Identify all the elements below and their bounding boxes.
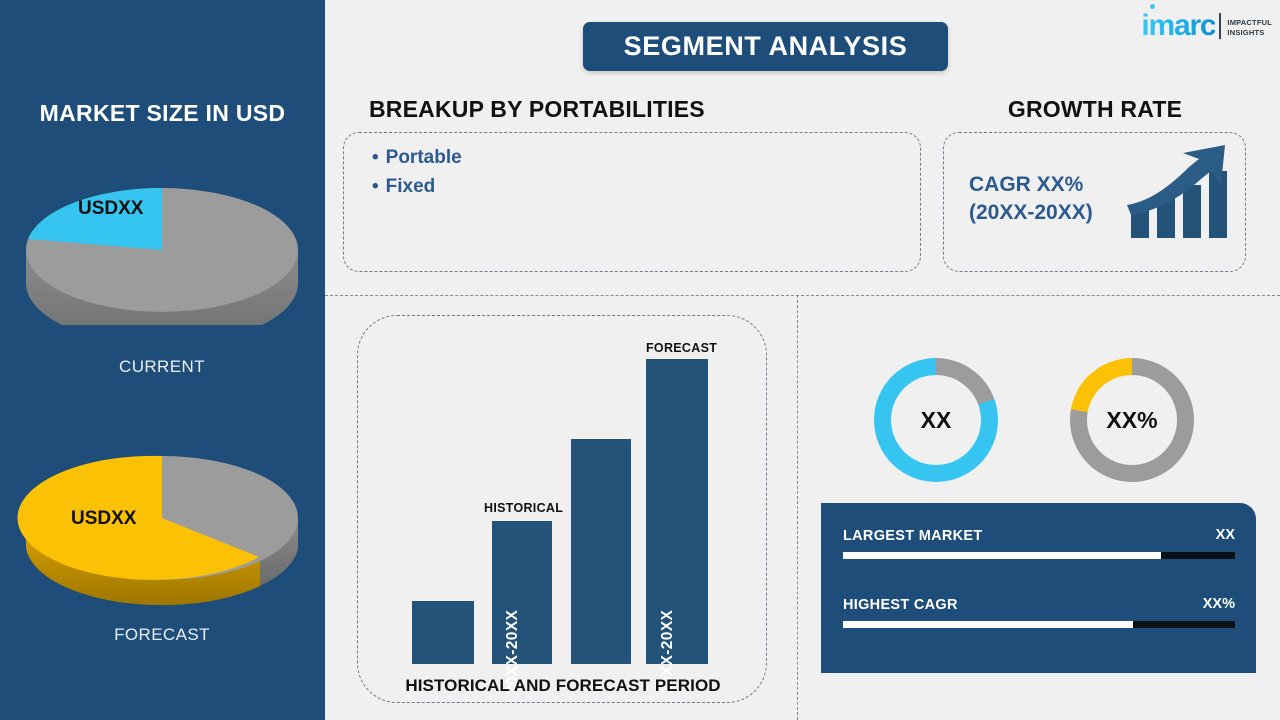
stat-progress-fill [843, 621, 1133, 628]
stat-row-highest-cagr: HIGHEST CAGR XX% [843, 596, 1235, 628]
bar-1 [412, 601, 474, 664]
portabilities-list: Portable Fixed [372, 144, 462, 202]
stat-row-largest-market: LARGEST MARKET XX [843, 527, 1235, 559]
logo-tagline-line2: INSIGHTS [1227, 28, 1272, 38]
logo-divider-icon [1219, 13, 1221, 39]
logo-word-text: imarc [1141, 9, 1215, 42]
infographic-page: MARKET SIZE IN USD USDXX CURRENT [0, 0, 1280, 720]
logo-tagline-line1: IMPACTFUL [1227, 18, 1272, 28]
pie-chart-current: USDXX CURRENT [16, 165, 308, 330]
bar-3 [571, 439, 631, 664]
donut-left-value: XX [891, 375, 981, 465]
pie-forecast-caption: FORECAST [16, 625, 308, 645]
pie-current-svg [16, 165, 308, 325]
bar-annotation-historical: HISTORICAL [484, 501, 563, 515]
bar-chart-axis-title: HISTORICAL AND FORECAST PERIOD [358, 676, 768, 696]
page-title: SEGMENT ANALYSIS [583, 22, 948, 71]
list-item: Portable [372, 144, 462, 173]
sidebar-title: MARKET SIZE IN USD [0, 100, 325, 127]
bar-4: 20XX-20XX [646, 359, 708, 664]
historical-forecast-chart: HISTORICAL 20XX-20XX FORECAST 20XX-20XX … [357, 315, 767, 703]
pie-current-caption: CURRENT [16, 357, 308, 377]
growth-rate-card: CAGR XX% (20XX-20XX) [943, 132, 1246, 272]
pie-forecast-svg [16, 440, 308, 605]
donut-chart-right: XX% [1070, 358, 1194, 482]
bar-plot-area: HISTORICAL 20XX-20XX FORECAST 20XX-20XX … [358, 316, 768, 704]
donut-chart-left: XX [874, 358, 998, 482]
stat-label: LARGEST MARKET [843, 528, 983, 544]
cagr-period: (20XX-20XX) [969, 199, 1093, 227]
stat-label: HIGHEST CAGR [843, 597, 958, 613]
bar-annotation-forecast: FORECAST [646, 341, 717, 355]
logo-tagline: IMPACTFUL INSIGHTS [1227, 18, 1272, 40]
cagr-value: CAGR XX% [969, 171, 1093, 199]
stat-value: XX% [1203, 596, 1235, 612]
list-item: Fixed [372, 173, 462, 202]
vertical-divider [797, 295, 798, 720]
logo-wordmark: imarc [1141, 12, 1215, 41]
stat-progress-fill [843, 552, 1161, 559]
growth-arrow-bars-icon [1125, 143, 1233, 248]
market-stats-panel: LARGEST MARKET XX HIGHEST CAGR XX% [821, 503, 1256, 673]
portabilities-card: Portable Fixed [343, 132, 921, 272]
stat-progress-track [843, 552, 1235, 559]
section-heading-portabilities: BREAKUP BY PORTABILITIES [369, 96, 705, 123]
main-content: SEGMENT ANALYSIS imarc IMPACTFUL INSIGHT… [325, 0, 1280, 720]
bar-2: 20XX-20XX [492, 521, 552, 664]
sidebar: MARKET SIZE IN USD USDXX CURRENT [0, 0, 325, 720]
cagr-text: CAGR XX% (20XX-20XX) [969, 171, 1093, 226]
horizontal-divider [325, 295, 1280, 296]
imarc-logo: imarc IMPACTFUL INSIGHTS [1141, 12, 1272, 41]
section-heading-growth-rate: GROWTH RATE [940, 96, 1250, 123]
stat-value: XX [1216, 527, 1235, 543]
donut-right-value: XX% [1087, 375, 1177, 465]
stat-progress-track [843, 621, 1235, 628]
pie-chart-forecast: USDXX FORECAST [16, 440, 308, 610]
